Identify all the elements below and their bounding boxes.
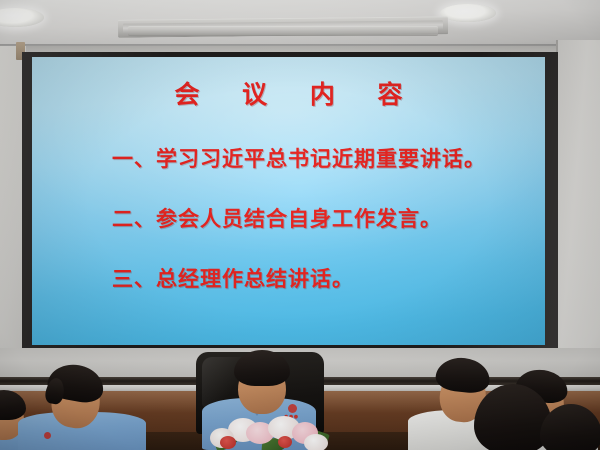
slide-bullet-1: 一、学习习近平总书记近期重要讲话。: [112, 149, 542, 170]
attendee-center-logo-icon: [288, 404, 297, 413]
projected-slide: 会 议 内 容 一、学习习近平总书记近期重要讲话。 二、参会人员结合自身工作发言…: [32, 57, 545, 345]
attendee-left-logo-icon: [44, 432, 51, 439]
attendee-center-hair: [234, 350, 290, 386]
flower-petal-red-2: [278, 436, 292, 448]
flower-petal-white-4: [304, 434, 328, 450]
slide-bullet-list: 一、学习习近平总书记近期重要讲话。 二、参会人员结合自身工作发言。 三、总经理作…: [112, 149, 542, 329]
meeting-room-screenshot: 会 议 内 容 一、学习习近平总书记近期重要讲话。 二、参会人员结合自身工作发言…: [0, 0, 600, 450]
slide-title: 会 议 内 容: [32, 75, 545, 111]
flower-petal-red-1: [220, 436, 236, 449]
downlight-right-icon: [440, 4, 496, 22]
slide-bullet-2: 二、参会人员结合自身工作发言。: [112, 209, 542, 230]
ceiling-air-vent-secondary: [128, 26, 438, 36]
slide-bullet-3: 三、总经理作总结讲话。: [112, 269, 542, 290]
